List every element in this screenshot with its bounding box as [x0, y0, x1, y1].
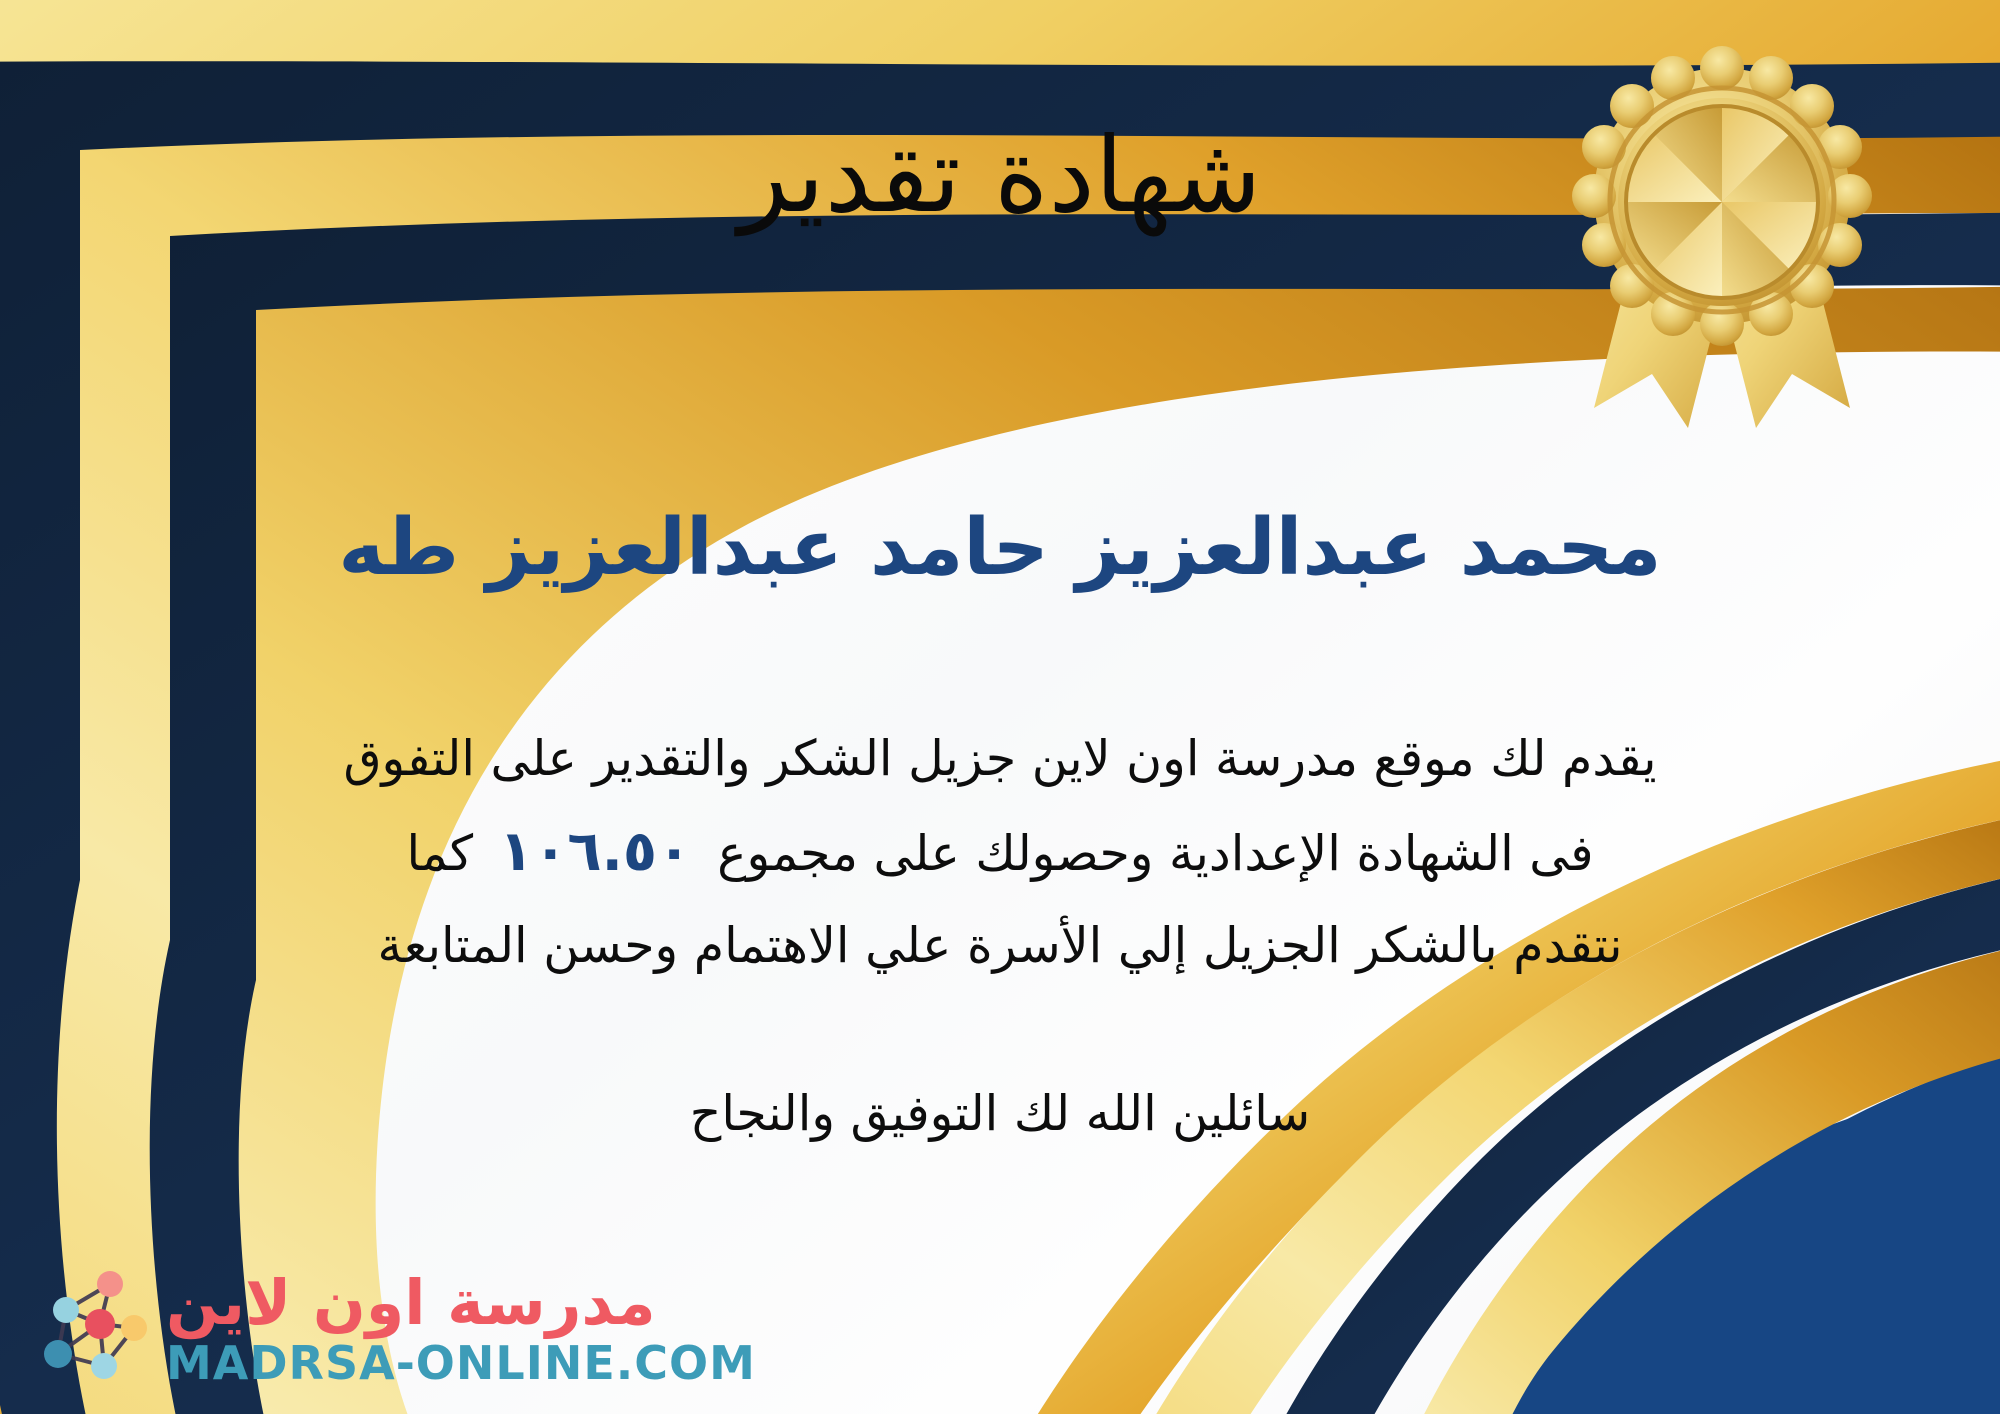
page-title: شهادة تقدير [0, 110, 2000, 240]
certificate-canvas: شهادة تقدير محمد عبدالعزيز حامد عبدالعزي… [0, 0, 2000, 1414]
network-nodes-icon [22, 1262, 152, 1396]
body-line-3: نتقدم بالشكر الجزيل إلي الأسرة علي الاهت… [55, 902, 1945, 989]
brand-domain: MADRSA-ONLINE.COM [166, 1340, 756, 1386]
recipient-name: محمد عبدالعزيز حامد عبدالعزيز طه [120, 498, 1880, 599]
body-line-1: يقدم لك موقع مدرسة اون لاين جزيل الشكر و… [55, 715, 1945, 802]
body-line-2: فى الشهادة الإعدادية وحصولك على مجموع١٠٦… [55, 802, 1945, 902]
brand-logo[interactable]: مدرسة اون لاين MADRSA-ONLINE.COM [22, 1262, 756, 1396]
body-line-2-prefix: فى الشهادة الإعدادية وحصولك على مجموع [717, 825, 1593, 882]
grade-total: ١٠٦.٥٠ [473, 819, 717, 884]
certificate-body: يقدم لك موقع مدرسة اون لاين جزيل الشكر و… [55, 715, 1945, 989]
brand-arabic-name: مدرسة اون لاين [166, 1272, 656, 1334]
closing-line: سائلين الله لك التوفيق والنجاح [0, 1085, 2000, 1142]
body-line-2-suffix: كما [406, 825, 473, 882]
